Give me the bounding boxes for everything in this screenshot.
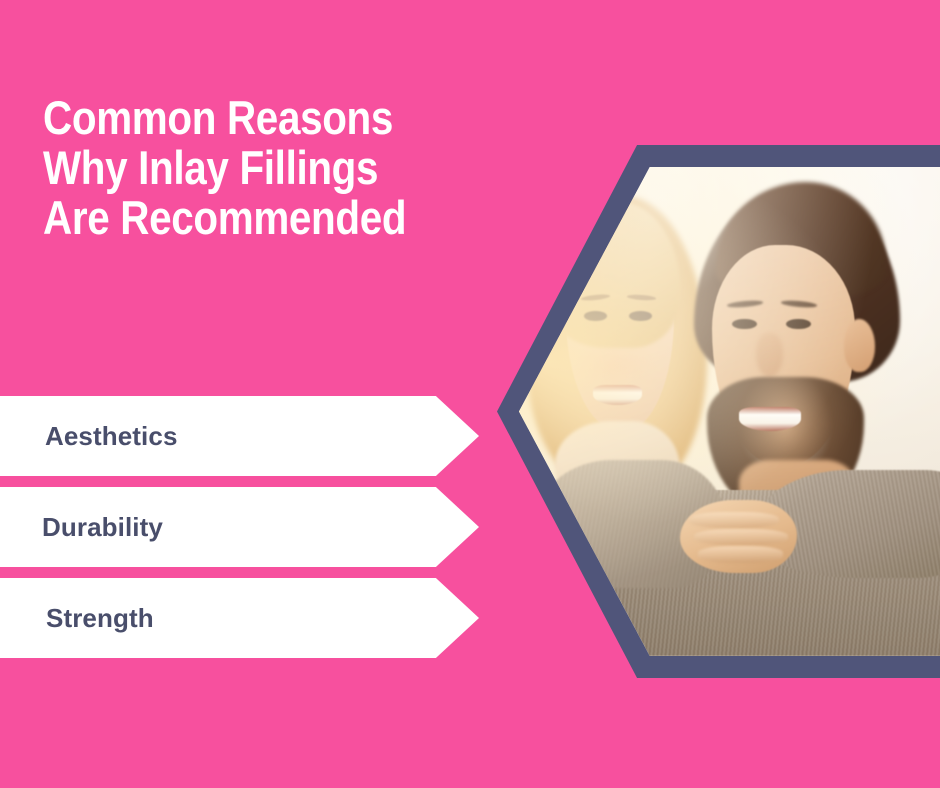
hexagon-photo-frame: [497, 145, 940, 678]
finger-3: [698, 546, 783, 563]
page-title: Common Reasons Why Inlay Fillings Are Re…: [43, 93, 513, 243]
woman-eye-right: [629, 311, 652, 321]
man-ear: [844, 319, 875, 373]
reason-banner-aesthetics[interactable]: Aesthetics: [0, 396, 479, 476]
reason-label: Strength: [0, 603, 154, 634]
poster-canvas: Common Reasons Why Inlay Fillings Are Re…: [0, 0, 940, 788]
couple-photo: [519, 167, 940, 656]
reason-banner-strength[interactable]: Strength: [0, 578, 479, 658]
title-line-2: Why Inlay Fillings: [43, 143, 447, 193]
reason-banner-durability[interactable]: Durability: [0, 487, 479, 567]
finger-1: [689, 512, 779, 529]
finger-2: [694, 529, 788, 546]
title-line-1: Common Reasons: [43, 93, 447, 143]
man-eye-right: [786, 319, 811, 330]
woman-cheek: [577, 343, 653, 387]
man-smile: [739, 407, 802, 431]
title-line-3: Are Recommended: [43, 193, 447, 243]
reason-label: Durability: [0, 512, 163, 543]
man-eye-left: [732, 319, 757, 330]
reason-label: Aesthetics: [0, 421, 178, 452]
